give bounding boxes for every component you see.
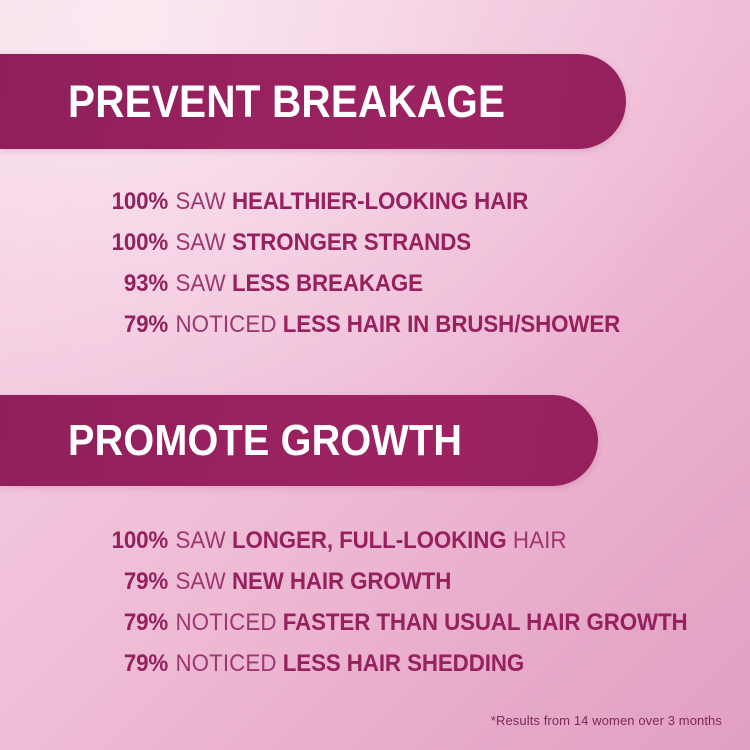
claims-list-prevent-breakage: 100% SAW HEALTHIER-LOOKING HAIR 100% SAW… <box>0 188 750 352</box>
claim-highlight: LESS HAIR SHEDDING <box>283 650 524 677</box>
results-claims-infographic: PREVENT BREAKAGE 100% SAW HEALTHIER-LOOK… <box>0 0 750 750</box>
claim-text: NOTICED LESS HAIR SHEDDING <box>168 650 524 678</box>
claim-percent: 79% <box>12 311 168 339</box>
claim-row: 100% SAW LONGER, FULL-LOOKING HAIR <box>0 527 750 568</box>
claim-highlight: HEALTHIER-LOOKING HAIR <box>232 188 528 215</box>
claims-list-promote-growth: 100% SAW LONGER, FULL-LOOKING HAIR 79% S… <box>0 527 750 691</box>
claim-text: SAW HEALTHIER-LOOKING HAIR <box>168 188 528 216</box>
claim-percent: 100% <box>12 527 168 555</box>
claim-verb: SAW <box>175 270 225 297</box>
claim-row: 79% NOTICED LESS HAIR IN BRUSH/SHOWER <box>0 311 750 352</box>
section-title-promote-growth: PROMOTE GROWTH <box>68 419 462 463</box>
claim-verb: SAW <box>175 188 225 215</box>
section-banner-promote-growth: PROMOTE GROWTH <box>0 395 598 486</box>
claim-percent: 79% <box>12 609 168 637</box>
claim-percent: 79% <box>12 650 168 678</box>
claim-highlight: FASTER THAN USUAL HAIR GROWTH <box>283 609 688 636</box>
section-banner-prevent-breakage: PREVENT BREAKAGE <box>0 54 626 149</box>
claim-row: 93% SAW LESS BREAKAGE <box>0 270 750 311</box>
claim-tail: HAIR <box>507 527 567 554</box>
claim-percent: 100% <box>12 229 168 257</box>
claim-highlight: LESS HAIR IN BRUSH/SHOWER <box>283 311 620 338</box>
section-title-prevent-breakage: PREVENT BREAKAGE <box>68 79 505 124</box>
claim-text: SAW STRONGER STRANDS <box>168 229 471 257</box>
claim-percent: 100% <box>12 188 168 216</box>
claim-highlight: LONGER, FULL-LOOKING <box>232 527 507 554</box>
claim-highlight: LESS BREAKAGE <box>232 270 423 297</box>
claim-row: 79% NOTICED FASTER THAN USUAL HAIR GROWT… <box>0 609 750 650</box>
claim-text: NOTICED LESS HAIR IN BRUSH/SHOWER <box>168 311 620 339</box>
claim-verb: SAW <box>175 229 225 256</box>
claim-highlight: STRONGER STRANDS <box>232 229 471 256</box>
claim-row: 79% NOTICED LESS HAIR SHEDDING <box>0 650 750 691</box>
footnote-disclaimer: *Results from 14 women over 3 months <box>491 713 722 728</box>
claim-verb: NOTICED <box>175 311 276 338</box>
claim-text: NOTICED FASTER THAN USUAL HAIR GROWTH <box>168 609 688 637</box>
claim-text: SAW NEW HAIR GROWTH <box>168 568 451 596</box>
claim-verb: SAW <box>175 568 225 595</box>
claim-percent: 93% <box>12 270 168 298</box>
claim-row: 100% SAW HEALTHIER-LOOKING HAIR <box>0 188 750 229</box>
claim-text: SAW LESS BREAKAGE <box>168 270 423 298</box>
claim-text: SAW LONGER, FULL-LOOKING HAIR <box>168 527 567 555</box>
claim-verb: NOTICED <box>175 650 276 677</box>
claim-percent: 79% <box>12 568 168 596</box>
claim-verb: NOTICED <box>175 609 276 636</box>
claim-verb: SAW <box>175 527 225 554</box>
claim-row: 100% SAW STRONGER STRANDS <box>0 229 750 270</box>
claim-highlight: NEW HAIR GROWTH <box>232 568 451 595</box>
claim-row: 79% SAW NEW HAIR GROWTH <box>0 568 750 609</box>
